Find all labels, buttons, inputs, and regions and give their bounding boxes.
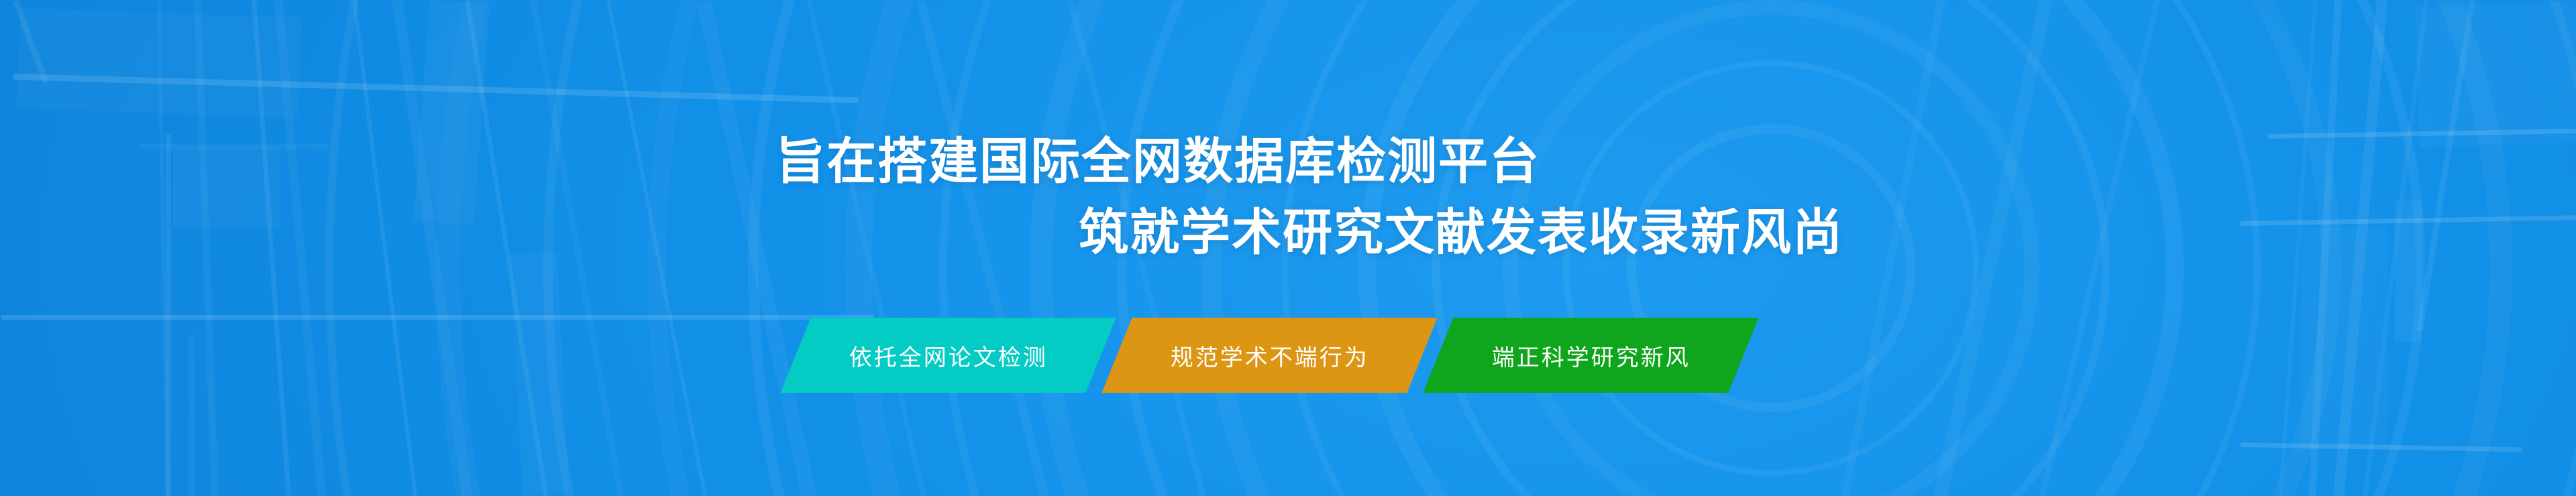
feature-tag-2[interactable]: 规范学术不端行为 (1102, 318, 1437, 393)
hero-banner: 旨在搭建国际全网数据库检测平台 筑就学术研究文献发表收录新风尚 依托全网论文检测… (0, 0, 2576, 496)
feature-tag-3[interactable]: 端正科学研究新风 (1423, 318, 1758, 393)
feature-tag-strip: 依托全网论文检测 规范学术不端行为 端正科学研究新风 (778, 318, 1805, 393)
feature-tag-2-label: 规范学术不端行为 (1171, 339, 1369, 372)
feature-tag-1-label: 依托全网论文检测 (849, 339, 1048, 372)
headline-line-1: 旨在搭建国际全网数据库检测平台 (775, 137, 1540, 186)
feature-tag-3-label: 端正科学研究新风 (1492, 339, 1690, 372)
headline-line-2: 筑就学术研究文献发表收录新风尚 (1079, 208, 1843, 257)
feature-tag-1[interactable]: 依托全网论文检测 (780, 318, 1116, 393)
headline-block: 旨在搭建国际全网数据库检测平台 筑就学术研究文献发表收录新风尚 (0, 0, 2576, 496)
